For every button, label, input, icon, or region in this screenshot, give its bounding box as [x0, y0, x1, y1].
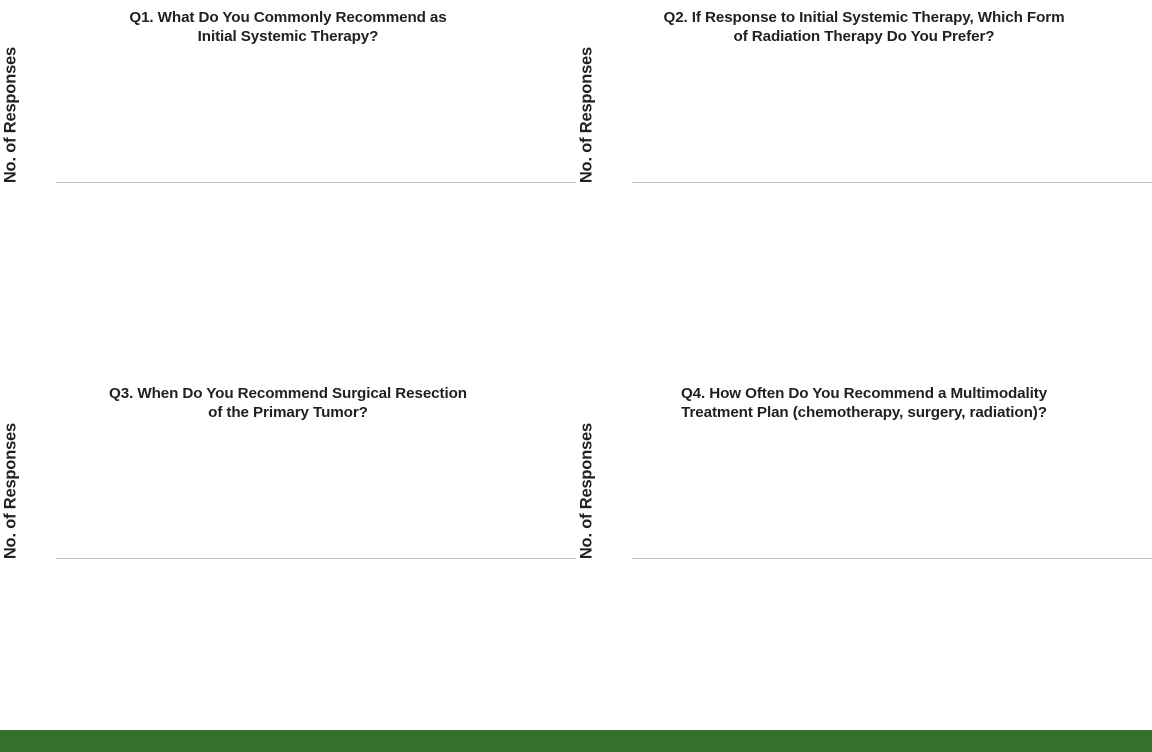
plot-area: No. of Responses	[576, 423, 1152, 559]
bar-groups	[56, 423, 576, 558]
chart-title: Q3. When Do You Recommend Surgical Resec…	[0, 376, 576, 423]
y-axis-ticks	[22, 47, 56, 183]
chart-panel-q2: Q2. If Response to Initial Systemic Ther…	[576, 0, 1152, 376]
plot-area: No. of Responses	[576, 47, 1152, 183]
plot-area: No. of Responses	[0, 423, 576, 559]
chart-title: Q4. How Often Do You Recommend a Multimo…	[576, 376, 1152, 423]
y-axis-ticks	[598, 47, 632, 183]
bar-groups	[632, 423, 1152, 558]
bar-groups	[56, 47, 576, 182]
y-axis-ticks	[22, 423, 56, 559]
plot-canvas	[56, 423, 576, 559]
figure-page: Q1. What Do You Commonly Recommend as In…	[0, 0, 1152, 752]
plot-canvas	[56, 47, 576, 183]
plot-area: No. of Responses	[0, 47, 576, 183]
y-axis-ticks	[598, 423, 632, 559]
chart-panel-q1: Q1. What Do You Commonly Recommend as In…	[0, 0, 576, 376]
plot-canvas	[632, 423, 1152, 559]
y-axis-label: No. of Responses	[576, 423, 598, 559]
chart-title: Q1. What Do You Commonly Recommend as In…	[0, 0, 576, 47]
chart-grid: Q1. What Do You Commonly Recommend as In…	[0, 0, 1152, 752]
chart-panel-q4: Q4. How Often Do You Recommend a Multimo…	[576, 376, 1152, 752]
chart-title: Q2. If Response to Initial Systemic Ther…	[576, 0, 1152, 47]
footer-band	[0, 730, 1152, 752]
bar-groups	[632, 47, 1152, 182]
y-axis-label: No. of Responses	[0, 47, 22, 183]
y-axis-label: No. of Responses	[576, 47, 598, 183]
y-axis-label: No. of Responses	[0, 423, 22, 559]
plot-canvas	[632, 47, 1152, 183]
chart-panel-q3: Q3. When Do You Recommend Surgical Resec…	[0, 376, 576, 752]
